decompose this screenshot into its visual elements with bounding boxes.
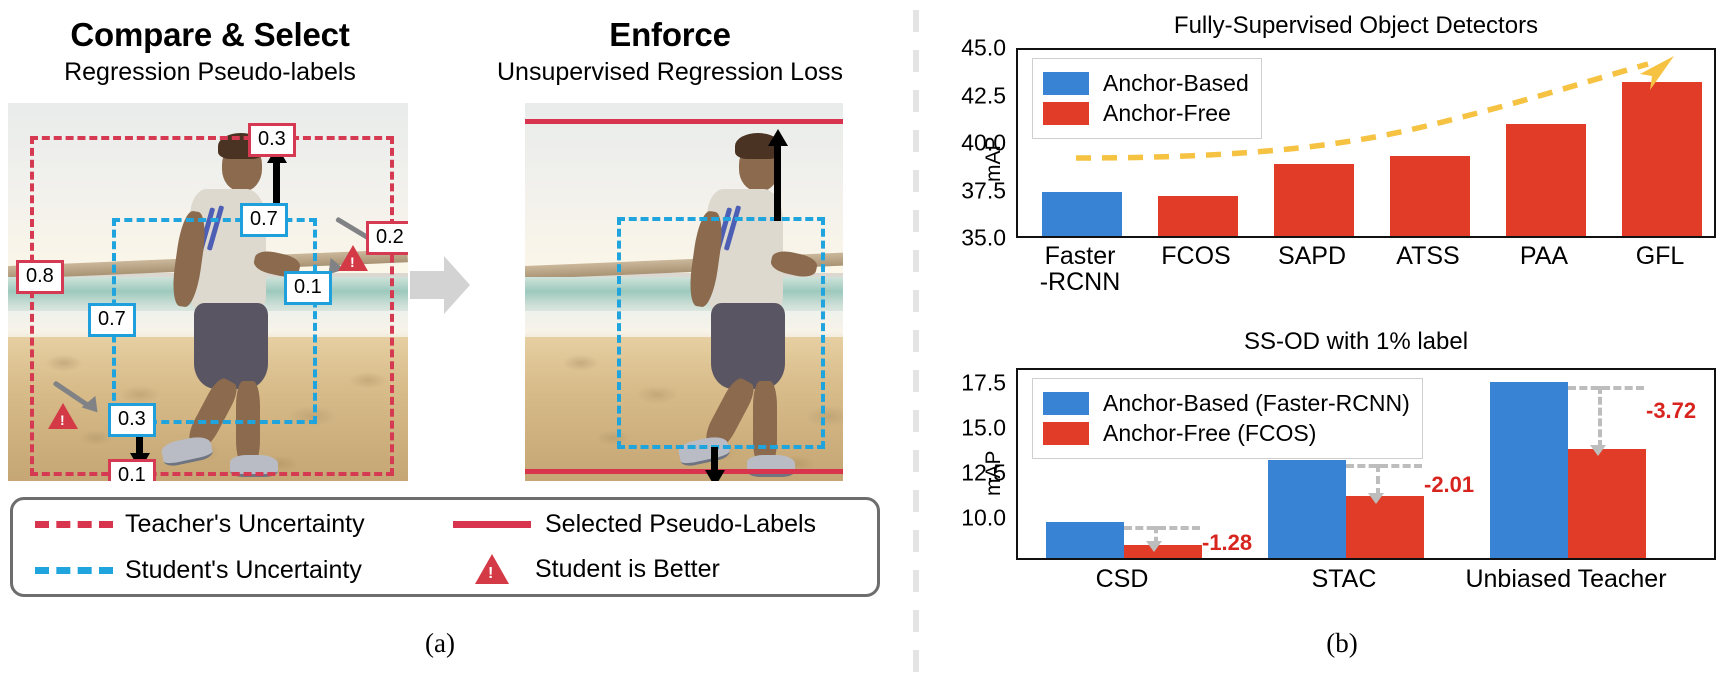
- chart-bottom-xtick-csd: CSD: [1096, 566, 1149, 592]
- legend-item-selected-pseudo-labels: Selected Pseudo-Labels: [453, 510, 816, 539]
- chart-top-title: Fully-Supervised Object Detectors: [1006, 12, 1706, 40]
- bar-gfl: [1622, 82, 1702, 236]
- chart-top-legend-row-0: Anchor-Based: [1043, 70, 1249, 97]
- bar-fcos: [1158, 196, 1238, 236]
- panel-a: Compare & Select Regression Pseudo-label…: [0, 0, 900, 695]
- chart-top-plot-area: Anchor-Based Anchor-Free: [1016, 48, 1716, 238]
- chart-top-xtick-paa: PAA: [1520, 243, 1568, 269]
- tag-left-teacher: 0.8: [16, 260, 64, 294]
- bar-paa: [1506, 124, 1586, 236]
- chart-bottom-ytick-12_5: 12.5: [920, 459, 1006, 486]
- legend-label-anchor-based: Anchor-Based: [1103, 70, 1249, 97]
- legend-swatch-anchor-free-fcos: [1043, 422, 1089, 445]
- legend-item-teacher-uncertainty: Teacher's Uncertainty: [35, 510, 365, 539]
- chart-top-ytick-40: 40.0: [920, 130, 1006, 157]
- bar-csd-anchor-based: [1046, 522, 1124, 558]
- bar-ut-anchor-based: [1490, 382, 1568, 558]
- warning-triangle-right: [338, 245, 368, 271]
- dashed-blue-line-icon: [35, 567, 113, 574]
- chart-bottom-legend: Anchor-Based (Faster-RCNN) Anchor-Free (…: [1032, 378, 1423, 459]
- chart-bottom-xtick-stac: STAC: [1312, 566, 1377, 592]
- chart-top-xtick-fcos: FCOS: [1161, 243, 1230, 269]
- warning-triangle-left: [48, 403, 78, 429]
- delta-label-stac: -2.01: [1424, 472, 1474, 498]
- tag-right-teacher: 0.2: [366, 221, 408, 255]
- bar-stac-anchor-based: [1268, 460, 1346, 558]
- figure-root: Compare & Select Regression Pseudo-label…: [0, 0, 1724, 695]
- student-uncertainty-box: [112, 218, 317, 424]
- chart-bottom-ytick-10: 10.0: [920, 504, 1006, 531]
- enforce-title: Enforce: [460, 16, 880, 54]
- warning-triangle-icon: [475, 554, 509, 584]
- right-example-image: [525, 103, 925, 481]
- legend-swatch-anchor-based: [1043, 72, 1089, 95]
- selected-pseudo-label-top-line: [525, 119, 925, 124]
- compare-select-title: Compare & Select: [0, 16, 420, 54]
- left-example-image: 0.3 0.7 0.2 0.1 0.8 0.7 0.3 0.1: [8, 103, 408, 481]
- delta-bracket-ut: [1568, 386, 1644, 456]
- caption-b: (b): [960, 628, 1724, 659]
- transition-arrow-icon: [410, 255, 470, 315]
- bar-sapd: [1274, 164, 1354, 236]
- chart-top-xtick-gfl: GFL: [1636, 243, 1685, 269]
- chart-bottom-xtick-unbiased-teacher: Unbiased Teacher: [1465, 566, 1666, 592]
- tag-top-teacher: 0.3: [248, 123, 296, 157]
- legend-item-student-uncertainty: Student's Uncertainty: [35, 556, 362, 585]
- xtick-line-2: -RCNN: [1040, 269, 1121, 295]
- legend-label-anchor-free: Anchor-Free: [1103, 100, 1231, 127]
- tag-top-student: 0.7: [240, 203, 288, 237]
- legend-label-student-uncertainty: Student's Uncertainty: [125, 556, 362, 585]
- enforce-up-arrow: [768, 129, 788, 221]
- caption-a: (a): [0, 628, 880, 659]
- chart-bottom-ytick-15: 15.0: [920, 415, 1006, 442]
- chart-top-legend: Anchor-Based Anchor-Free: [1032, 58, 1262, 139]
- enforce-subtitle: Unsupervised Regression Loss: [460, 58, 880, 87]
- chart-top-ytick-37_5: 37.5: [920, 177, 1006, 204]
- bar-faster-rcnn: [1042, 192, 1122, 236]
- compare-select-subtitle: Regression Pseudo-labels: [0, 58, 420, 87]
- legend-label-teacher-uncertainty: Teacher's Uncertainty: [125, 510, 365, 539]
- chart-top-xtick-faster-rcnn: Faster-RCNN: [1040, 243, 1121, 296]
- chart-bottom-legend-row-1: Anchor-Free (FCOS): [1043, 420, 1410, 447]
- tag-bottom-student: 0.3: [108, 403, 156, 437]
- bar-ut-anchor-free: [1568, 449, 1646, 558]
- bar-atss: [1390, 156, 1470, 236]
- tag-right-student: 0.1: [284, 271, 332, 305]
- chart-top-ytick-42_5: 42.5: [920, 82, 1006, 109]
- panel-a-legend: Teacher's Uncertainty Student's Uncertai…: [10, 497, 880, 597]
- tag-bottom-teacher: 0.1: [108, 459, 156, 481]
- legend-label-selected-pseudo-labels: Selected Pseudo-Labels: [545, 510, 816, 539]
- chart-bottom-title: SS-OD with 1% label: [1006, 328, 1706, 356]
- chart-bottom-ytick-17_5: 17.5: [920, 370, 1006, 397]
- chart-fully-supervised: Fully-Supervised Object Detectors mAP 45…: [960, 12, 1724, 312]
- chart-bottom-legend-row-0: Anchor-Based (Faster-RCNN): [1043, 390, 1410, 417]
- panel-b: Fully-Supervised Object Detectors mAP 45…: [960, 0, 1724, 695]
- student-box-enforced: [617, 217, 825, 449]
- chart-top-xtick-atss: ATSS: [1396, 243, 1459, 269]
- dashed-red-line-icon: [35, 521, 113, 528]
- delta-label-csd: -1.28: [1202, 530, 1252, 556]
- legend-swatch-anchor-based-frcnn: [1043, 392, 1089, 415]
- xtick-line-1: Faster: [1040, 243, 1121, 269]
- chart-top-xtick-sapd: SAPD: [1278, 243, 1346, 269]
- panel-divider: [913, 10, 919, 682]
- selected-pseudo-label-bottom-line: [525, 469, 925, 474]
- chart-top-legend-row-1: Anchor-Free: [1043, 100, 1249, 127]
- chart-top-ytick-35: 35.0: [920, 225, 1006, 252]
- enforce-down-arrow: [705, 447, 725, 481]
- delta-bracket-csd: [1124, 526, 1200, 552]
- chart-top-ytick-45: 45.0: [920, 35, 1006, 62]
- legend-label-anchor-based-frcnn: Anchor-Based (Faster-RCNN): [1103, 390, 1410, 417]
- delta-label-ut: -3.72: [1646, 398, 1696, 424]
- legend-swatch-anchor-free: [1043, 102, 1089, 125]
- tag-left-student: 0.7: [88, 303, 136, 337]
- delta-bracket-stac: [1346, 464, 1422, 504]
- bar-stac-anchor-free: [1346, 496, 1424, 558]
- legend-item-student-is-better: Student is Better: [475, 554, 720, 584]
- legend-label-anchor-free-fcos: Anchor-Free (FCOS): [1103, 420, 1316, 447]
- solid-red-line-icon: [453, 521, 531, 528]
- chart-ssod: SS-OD with 1% label mAP 17.5 15.0 12.5 1…: [960, 328, 1724, 628]
- chart-bottom-plot-area: -1.28 -2.01 -3.72 Anchor-Based (Faster-R…: [1016, 368, 1716, 560]
- legend-label-student-is-better: Student is Better: [535, 555, 720, 584]
